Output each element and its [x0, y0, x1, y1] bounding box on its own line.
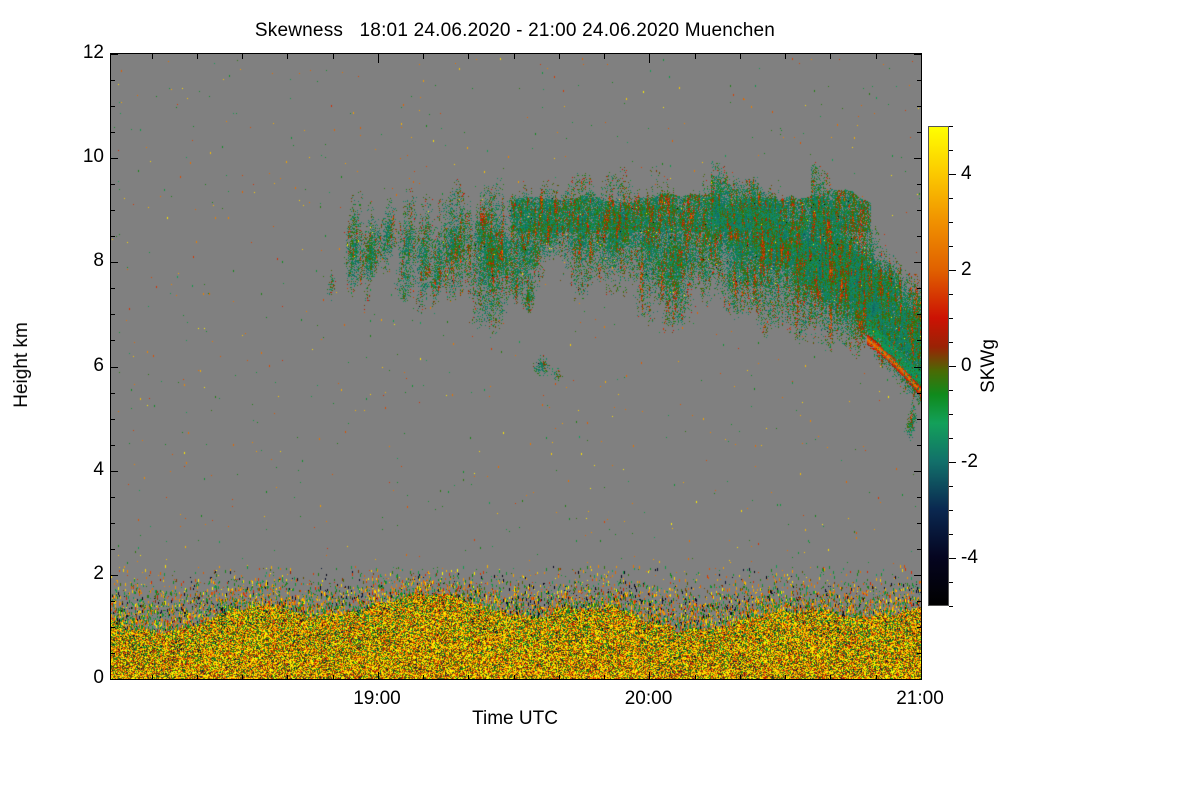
- y-tick-minor: [111, 601, 115, 602]
- x-tick-major: [649, 672, 650, 679]
- colorbar-tick-minor: [949, 150, 953, 151]
- x-tick-minor-top: [152, 54, 153, 59]
- x-tick-minor-top: [876, 54, 877, 59]
- x-tick-minor: [514, 675, 515, 679]
- colorbar-tick-minor: [949, 486, 953, 487]
- y-tick-major: [111, 262, 118, 263]
- x-tick-minor-top: [423, 54, 424, 59]
- colorbar-tick-major: [949, 174, 956, 175]
- x-tick-major: [378, 672, 379, 679]
- y-tick-minor-right: [917, 184, 921, 185]
- y-tick-major: [111, 367, 118, 368]
- x-tick-minor-top: [695, 54, 696, 59]
- y-tick-minor: [111, 340, 115, 341]
- x-tick-minor: [197, 675, 198, 679]
- y-axis-tick-label: 0: [8, 667, 104, 689]
- x-tick-major-top: [649, 54, 650, 63]
- colorbar-tick-label: 4: [961, 163, 972, 185]
- x-tick-minor-top: [468, 54, 469, 59]
- colorbar-tick-minor: [949, 606, 953, 607]
- y-axis-tick-label: 12: [8, 42, 104, 64]
- y-tick-major-right: [914, 262, 921, 263]
- x-tick-minor: [830, 675, 831, 679]
- colorbar-tick-minor: [949, 390, 953, 391]
- colorbar-title: SKWg: [978, 339, 1000, 393]
- y-tick-minor: [111, 445, 115, 446]
- colorbar-tick-major: [949, 558, 956, 559]
- y-tick-minor: [111, 549, 115, 550]
- y-tick-minor-right: [917, 393, 921, 394]
- y-tick-major: [111, 158, 118, 159]
- colorbar-tick-minor: [949, 342, 953, 343]
- colorbar-tick-major: [949, 462, 956, 463]
- colorbar-tick-label: 0: [961, 355, 972, 377]
- y-tick-minor: [111, 314, 115, 315]
- x-tick-major-top: [921, 54, 922, 63]
- y-tick-major-right: [914, 575, 921, 576]
- y-tick-major-right: [914, 54, 921, 55]
- y-tick-minor: [111, 236, 115, 237]
- y-axis-tick-label: 4: [8, 459, 104, 481]
- y-tick-major: [111, 54, 118, 55]
- y-tick-minor-right: [917, 445, 921, 446]
- x-tick-minor: [740, 675, 741, 679]
- y-tick-minor-right: [917, 288, 921, 289]
- colorbar-tick-label: 2: [961, 259, 972, 281]
- colorbar-tick-minor: [949, 318, 953, 319]
- x-tick-minor: [242, 675, 243, 679]
- x-tick-minor: [333, 675, 334, 679]
- x-tick-minor-top: [604, 54, 605, 59]
- colorbar-tick-minor: [949, 510, 953, 511]
- x-tick-minor: [785, 675, 786, 679]
- x-tick-minor-top: [514, 54, 515, 59]
- x-tick-major: [921, 672, 922, 679]
- x-axis-title: Time UTC: [472, 708, 558, 730]
- x-tick-major-top: [378, 54, 379, 63]
- y-tick-minor: [111, 393, 115, 394]
- y-tick-minor: [111, 80, 115, 81]
- y-tick-minor: [111, 627, 115, 628]
- colorbar-tick-minor: [949, 438, 953, 439]
- colorbar: -4-2024: [928, 126, 949, 606]
- x-tick-minor-top: [287, 54, 288, 59]
- y-tick-minor-right: [917, 132, 921, 133]
- page-title: Skewness 18:01 24.06.2020 - 21:00 24.06.…: [0, 20, 1030, 42]
- x-tick-minor: [468, 675, 469, 679]
- colorbar-tick-minor: [949, 222, 953, 223]
- plot-area: [110, 53, 922, 680]
- x-tick-minor-top: [830, 54, 831, 59]
- y-tick-minor: [111, 419, 115, 420]
- y-tick-minor-right: [917, 80, 921, 81]
- x-tick-minor-top: [197, 54, 198, 59]
- colorbar-tick-major: [949, 270, 956, 271]
- y-tick-minor-right: [917, 549, 921, 550]
- colorbar-tick-label: -4: [961, 547, 978, 569]
- y-tick-major: [111, 471, 118, 472]
- y-axis-tick-label: 2: [8, 563, 104, 585]
- x-axis-tick-label: 21:00: [896, 688, 944, 710]
- y-tick-minor: [111, 106, 115, 107]
- y-tick-minor-right: [917, 106, 921, 107]
- y-tick-minor-right: [917, 236, 921, 237]
- x-axis-tick-label: 19:00: [353, 688, 401, 710]
- y-tick-major-right: [914, 158, 921, 159]
- y-axis-tick-label: 10: [8, 146, 104, 168]
- colorbar-tick-minor: [949, 126, 953, 127]
- x-tick-minor: [287, 675, 288, 679]
- y-tick-minor-right: [917, 419, 921, 420]
- colorbar-tick-minor: [949, 582, 953, 583]
- figure-root: Skewness 18:01 24.06.2020 - 21:00 24.06.…: [0, 0, 1200, 800]
- colorbar-tick-minor: [949, 198, 953, 199]
- colorbar-tick-minor: [949, 246, 953, 247]
- x-tick-minor: [152, 675, 153, 679]
- y-tick-minor-right: [917, 210, 921, 211]
- colorbar-tick-minor: [949, 294, 953, 295]
- y-tick-minor: [111, 653, 115, 654]
- y-tick-minor: [111, 523, 115, 524]
- y-tick-minor-right: [917, 340, 921, 341]
- colorbar-tick-minor: [949, 414, 953, 415]
- x-tick-minor: [559, 675, 560, 679]
- y-axis-title: Height km: [11, 322, 33, 408]
- heatmap-canvas: [111, 54, 921, 679]
- x-tick-minor-top: [242, 54, 243, 59]
- y-tick-minor: [111, 497, 115, 498]
- y-tick-minor: [111, 184, 115, 185]
- x-tick-minor-top: [785, 54, 786, 59]
- y-tick-major-right: [914, 679, 921, 680]
- colorbar-gradient: [928, 126, 949, 606]
- colorbar-tick-major: [949, 366, 956, 367]
- y-axis-tick-label: 8: [8, 250, 104, 272]
- y-tick-major: [111, 679, 118, 680]
- x-tick-minor: [695, 675, 696, 679]
- x-tick-minor-top: [740, 54, 741, 59]
- y-tick-minor: [111, 132, 115, 133]
- y-tick-minor-right: [917, 627, 921, 628]
- y-tick-minor-right: [917, 314, 921, 315]
- x-axis-tick-label: 20:00: [625, 688, 673, 710]
- colorbar-tick-minor: [949, 534, 953, 535]
- y-tick-minor: [111, 288, 115, 289]
- y-tick-major-right: [914, 367, 921, 368]
- y-tick-minor-right: [917, 653, 921, 654]
- y-tick-minor-right: [917, 523, 921, 524]
- x-tick-minor: [876, 675, 877, 679]
- y-tick-major: [111, 575, 118, 576]
- y-tick-minor-right: [917, 497, 921, 498]
- x-tick-minor-top: [559, 54, 560, 59]
- x-tick-minor: [423, 675, 424, 679]
- x-axis-labels: 19:0020:0021:00: [0, 688, 1200, 718]
- x-tick-minor: [604, 675, 605, 679]
- y-tick-minor-right: [917, 601, 921, 602]
- x-tick-minor-top: [333, 54, 334, 59]
- colorbar-tick-label: -2: [961, 451, 978, 473]
- y-tick-major-right: [914, 471, 921, 472]
- y-tick-minor: [111, 210, 115, 211]
